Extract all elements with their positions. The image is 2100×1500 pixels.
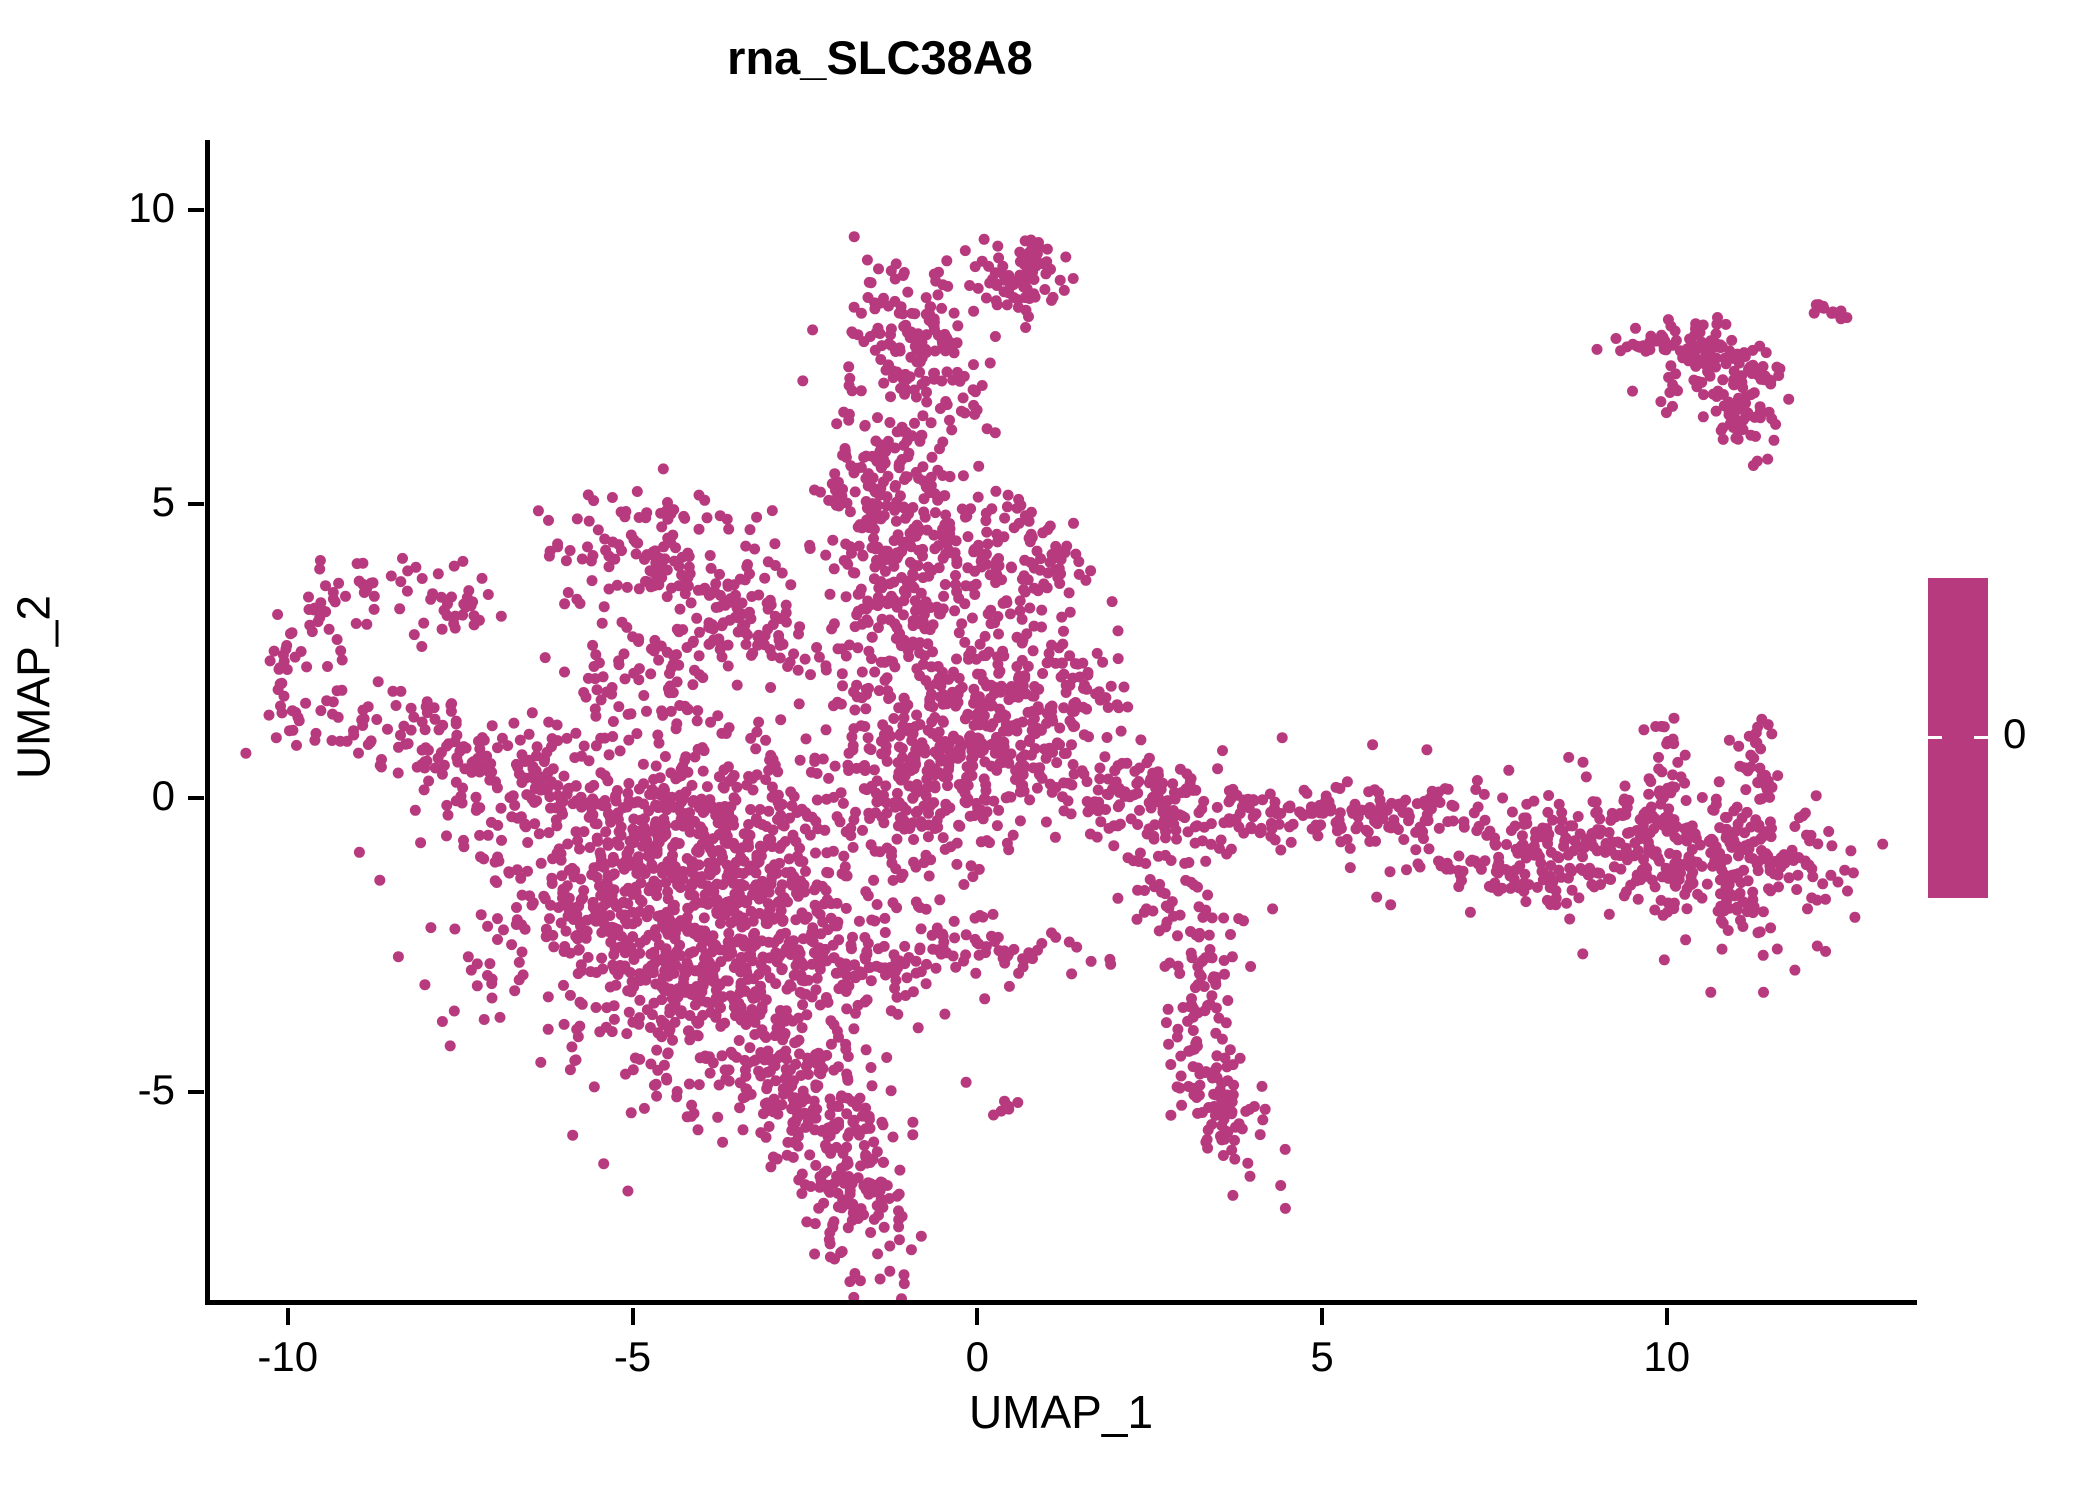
x-tick-mark [286,1308,290,1325]
x-tick-label: -5 [533,1333,733,1381]
x-tick-mark [975,1308,979,1325]
x-tick-mark [1320,1308,1324,1325]
colorbar-tick-left [1928,736,1942,739]
x-axis-line [205,1300,1917,1305]
page-title: rna_SLC38A8 [0,30,1760,85]
y-tick-mark [188,1090,204,1094]
x-tick-mark [1665,1308,1669,1325]
x-tick-label: 0 [877,1333,1077,1381]
colorbar-legend: 0 [1928,578,2078,898]
plot-panel [205,140,1915,1303]
y-tick-mark [188,502,204,506]
y-tick-mark [188,796,204,800]
x-tick-label: 5 [1222,1333,1422,1381]
colorbar-tick-right [1974,736,1988,739]
colorbar-tick-label-0: 0 [2003,710,2026,758]
scatter-points-layer [205,140,1915,1303]
x-tick-label: 10 [1567,1333,1767,1381]
umap-feature-plot-figure: rna_SLC38A8 -50510 -10-50510 UMAP_1 UMAP… [0,0,2100,1500]
x-tick-mark [631,1308,635,1325]
x-tick-label: -10 [188,1333,388,1381]
y-axis-line [205,140,210,1305]
x-axis-title: UMAP_1 [205,1385,1917,1439]
y-axis-title: UMAP_2 [7,106,61,1269]
colorbar-gradient [1928,578,1988,898]
y-tick-mark [188,208,204,212]
